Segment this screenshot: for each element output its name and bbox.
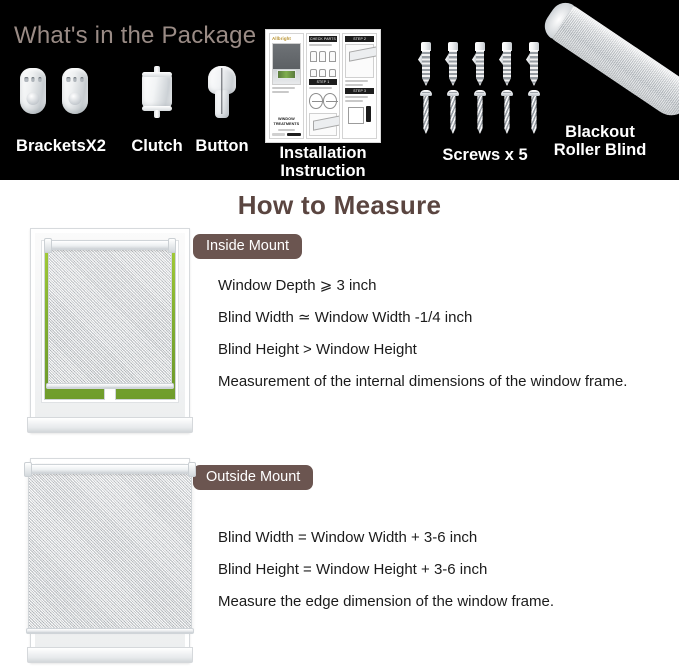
wall-anchor-icon xyxy=(447,42,459,86)
outside-mount-illustration xyxy=(30,458,190,663)
inside-mount-illustration xyxy=(30,228,190,433)
package-contents-banner: What's in the Package BracketsX2 Clutch … xyxy=(0,0,679,180)
bracket-icon xyxy=(62,68,88,114)
outside-mount-instructions: Blind Width = Window Width + 3-6 inch Bl… xyxy=(218,522,658,618)
badge-inside-mount: Inside Mount xyxy=(193,234,302,259)
outside-mount-line-1: Blind Width = Window Width + 3-6 inch xyxy=(218,522,658,554)
wall-anchor-icon xyxy=(528,42,540,86)
package-label-roller-blind: Blackout Roller Blind xyxy=(532,124,668,160)
button-icon xyxy=(208,66,236,118)
screw-icon xyxy=(447,90,459,134)
manual-step-3: STEP 3 xyxy=(345,88,374,94)
screw-icon xyxy=(501,90,513,134)
product-infographic: What's in the Package BracketsX2 Clutch … xyxy=(0,0,679,667)
wall-anchor-icon xyxy=(474,42,486,86)
page-title: How to Measure xyxy=(0,190,679,221)
inside-mount-line-1: Window Depth ⩾ 3 inch xyxy=(218,270,648,302)
inside-mount-instructions: Window Depth ⩾ 3 inch Blind Width ≃ Wind… xyxy=(218,270,648,398)
inside-mount-line-4: Measurement of the internal dimensions o… xyxy=(218,366,648,398)
manual-step-check: CHECK PARTS xyxy=(309,36,338,42)
rolled-blind-icon xyxy=(539,0,679,123)
inside-mount-line-3: Blind Height > Window Height xyxy=(218,334,648,366)
manual-title-line1: WINDOW xyxy=(278,117,295,121)
inside-mount-line-2: Blind Width ≃ Window Width -1/4 inch xyxy=(218,302,648,334)
wall-anchor-icon xyxy=(420,42,432,86)
manual-step-2: STEP 2 xyxy=(345,36,374,42)
package-label-button: Button xyxy=(184,138,260,156)
outside-mount-line-2: Blind Height = Window Height + 3-6 inch xyxy=(218,554,658,586)
screw-icon xyxy=(474,90,486,134)
bracket-icon xyxy=(20,68,46,114)
manual-title-line2: TREATMENTS xyxy=(274,122,300,126)
package-label-instruction: Installation Instruction xyxy=(266,145,380,180)
outside-mount-line-3: Measure the edge dimension of the window… xyxy=(218,586,658,618)
wall-anchor-icon xyxy=(501,42,513,86)
manual-icon: Allbright WINDOW TREATMENTS CHECK PARTS … xyxy=(266,30,380,142)
package-label-brackets: BracketsX2 xyxy=(10,138,112,156)
badge-outside-mount: Outside Mount xyxy=(193,465,313,490)
manual-step-1: STEP 1 xyxy=(309,79,338,85)
screw-icon xyxy=(420,90,432,134)
manual-brand: Allbright xyxy=(272,36,301,41)
banner-title: What's in the Package xyxy=(14,22,256,50)
clutch-icon xyxy=(140,66,174,118)
